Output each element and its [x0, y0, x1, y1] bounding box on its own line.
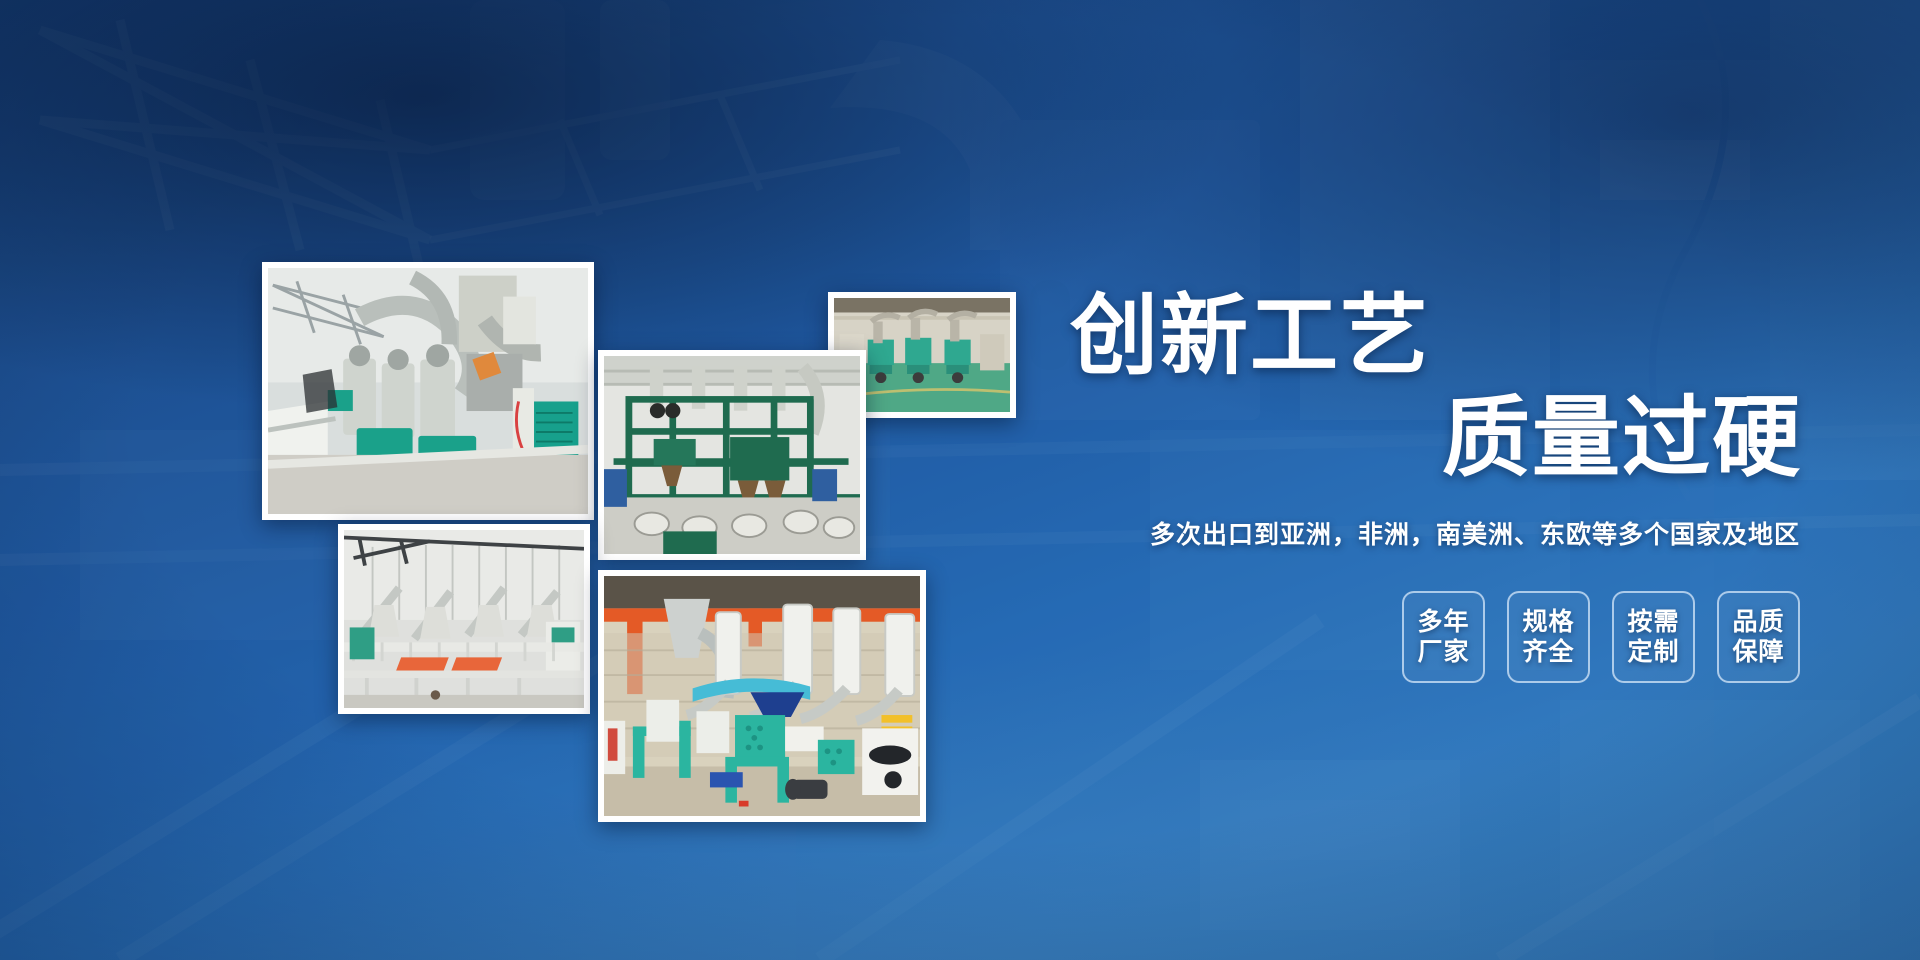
badge-line-top: 品质: [1732, 607, 1784, 638]
photo-top-left: [262, 262, 594, 520]
badge-line-bottom: 厂家: [1417, 637, 1469, 668]
feature-badge-specs: 规格 齐全: [1507, 591, 1590, 683]
headline: 创新工艺 质量过硬: [1070, 285, 1810, 489]
promo-banner: 创新工艺 质量过硬 多次出口到亚洲，非洲，南美洲、东欧等多个国家及地区 多年 厂…: [0, 0, 1920, 960]
badge-line-top: 规格: [1522, 607, 1574, 638]
headline-line-2: 质量过硬: [1070, 387, 1810, 489]
photo-bottom-right: [598, 570, 926, 822]
badge-line-bottom: 保障: [1732, 637, 1784, 668]
badge-line-bottom: 定制: [1627, 637, 1679, 668]
photo-middle: [598, 350, 866, 560]
subtitle: 多次出口到亚洲，非洲，南美洲、东欧等多个国家及地区: [1070, 515, 1810, 551]
feature-badge-custom: 按需 定制: [1612, 591, 1695, 683]
feature-badge-quality: 品质 保障: [1717, 591, 1800, 683]
badge-line-top: 多年: [1417, 607, 1469, 638]
headline-line-1: 创新工艺: [1070, 285, 1810, 387]
copy-block: 创新工艺 质量过硬 多次出口到亚洲，非洲，南美洲、东欧等多个国家及地区 多年 厂…: [1070, 285, 1810, 683]
photo-bottom-left: [338, 524, 590, 714]
badge-line-bottom: 齐全: [1522, 637, 1574, 668]
badge-line-top: 按需: [1627, 607, 1679, 638]
feature-badge-list: 多年 厂家 规格 齐全 按需 定制 品质 保障: [1070, 591, 1810, 683]
feature-badge-years: 多年 厂家: [1402, 591, 1485, 683]
